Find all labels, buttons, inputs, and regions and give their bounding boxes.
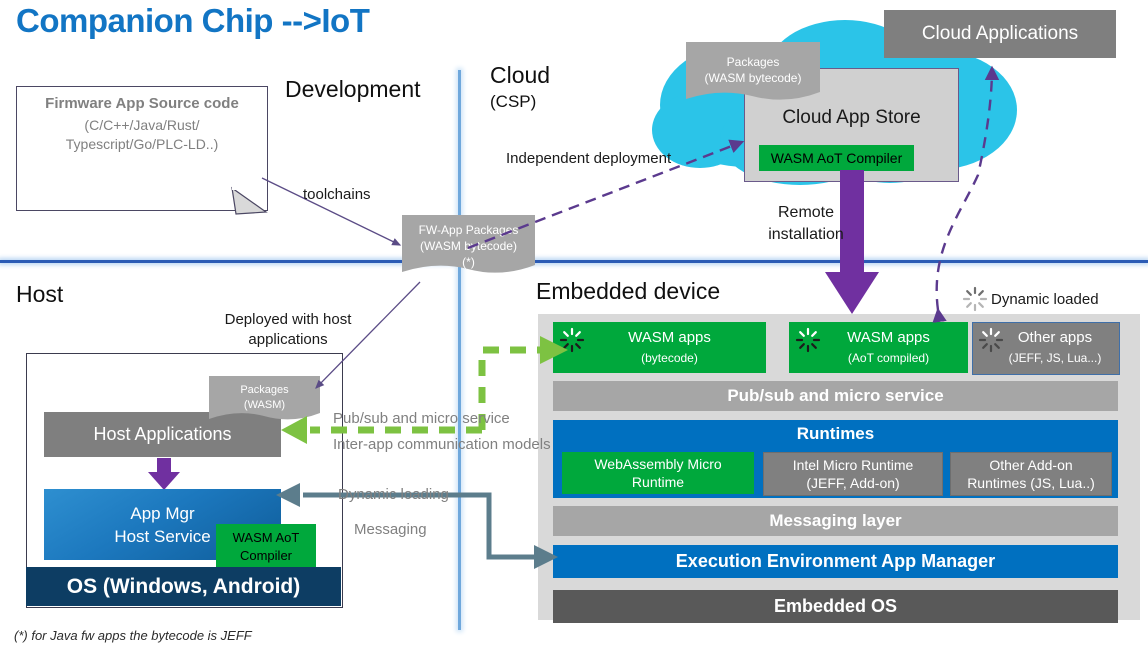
embedded-os-band[interactable]: Embedded OS bbox=[553, 590, 1118, 623]
messaging-label: Messaging bbox=[354, 521, 427, 538]
cloud-packages-callout: Packages (WASM bytecode) bbox=[686, 52, 820, 88]
cloud-wasm-aot-compiler-label: WASM AoT Compiler bbox=[771, 150, 902, 166]
host-app-mgr-line2: Host Service bbox=[114, 525, 210, 548]
host-applications-label: Host Applications bbox=[93, 424, 231, 445]
inter-app-communication-label: Inter-app communication models bbox=[333, 436, 551, 453]
section-heading-host: Host bbox=[16, 281, 63, 308]
embedded-runtime-1-l2: (JEFF, Add-on) bbox=[806, 474, 899, 492]
cloud-packages-line2: (WASM bytecode) bbox=[705, 70, 802, 86]
host-packages-line2: (WASM) bbox=[244, 398, 285, 413]
deployed-line2: applications bbox=[248, 330, 327, 350]
firmware-source-code-box: Firmware App Source code (C/C++/Java/Rus… bbox=[16, 86, 268, 211]
host-app-mgr-line1: App Mgr bbox=[130, 502, 194, 525]
section-heading-embedded-device: Embedded device bbox=[536, 278, 720, 305]
pubsub-micro-service-label: Pub/sub and micro service bbox=[333, 410, 510, 427]
firmware-heading: Firmware App Source code bbox=[45, 95, 239, 112]
deployed-with-host-label: Deployed with host applications bbox=[206, 310, 370, 350]
page-title: Companion Chip -->IoT bbox=[16, 2, 369, 40]
fw-packages-line1: FW-App Packages bbox=[419, 222, 519, 238]
spinner-icon-legend bbox=[964, 288, 986, 310]
embedded-runtime-box-0[interactable]: WebAssembly Micro Runtime bbox=[562, 452, 754, 494]
cloud-app-store-title: Cloud App Store bbox=[782, 107, 920, 129]
embedded-runtime-1-l1: Intel Micro Runtime bbox=[793, 456, 914, 474]
section-heading-cloud: Cloud bbox=[490, 62, 550, 89]
embedded-runtime-0-l2: Runtime bbox=[632, 473, 684, 491]
independent-deployment-label: Independent deployment bbox=[506, 150, 671, 167]
firmware-line2: (C/C++/Java/Rust/ bbox=[84, 116, 199, 135]
section-subheading-cloud-csp: (CSP) bbox=[490, 92, 536, 112]
embedded-app-1-sub: (AoT compiled) bbox=[848, 348, 929, 368]
embedded-runtimes-title-label: Runtimes bbox=[797, 424, 874, 444]
embedded-runtimes-title: Runtimes bbox=[553, 422, 1118, 446]
embedded-app-0-name: WASM apps bbox=[628, 328, 711, 348]
toolchains-label: toolchains bbox=[303, 186, 371, 203]
host-aot-line2: Compiler bbox=[240, 547, 292, 565]
embedded-runtime-2-l1: Other Add-on bbox=[989, 456, 1072, 474]
host-aot-line1: WASM AoT bbox=[233, 529, 300, 547]
dynamic-loading-label: Dynamic loading bbox=[338, 486, 449, 503]
remote-installation-label: Remote installation bbox=[766, 202, 846, 246]
fw-packages-callout: FW-App Packages (WASM bytecode) (*) bbox=[402, 220, 535, 272]
footnote: (*) for Java fw apps the bytecode is JEF… bbox=[14, 628, 252, 643]
fw-packages-line2: (WASM bytecode) bbox=[420, 238, 517, 254]
embedded-app-2-text: Other apps (JEFF, JS, Lua...) bbox=[992, 330, 1118, 365]
horizontal-divider bbox=[0, 260, 1148, 263]
embedded-pubsub-band[interactable]: Pub/sub and micro service bbox=[553, 381, 1118, 411]
cloud-applications-box[interactable]: Cloud Applications bbox=[884, 10, 1116, 58]
host-packages-callout: Packages (WASM) bbox=[209, 381, 320, 415]
embedded-app-1-name: WASM apps bbox=[847, 328, 930, 348]
embedded-runtime-2-l2: Runtimes (JS, Lua..) bbox=[967, 474, 1095, 492]
embedded-os-label: Embedded OS bbox=[774, 596, 897, 617]
cloud-packages-line1: Packages bbox=[727, 54, 780, 70]
host-applications-box[interactable]: Host Applications bbox=[44, 412, 281, 457]
embedded-runtime-0-l1: WebAssembly Micro bbox=[594, 455, 721, 473]
embedded-runtime-box-2[interactable]: Other Add-on Runtimes (JS, Lua..) bbox=[950, 452, 1112, 496]
cloud-applications-label: Cloud Applications bbox=[922, 23, 1078, 45]
dynamic-loaded-legend-label: Dynamic loaded bbox=[991, 291, 1099, 308]
remote-installation-line1: Remote bbox=[778, 202, 834, 224]
embedded-app-0-sub: (bytecode) bbox=[641, 348, 698, 368]
embedded-app-manager-label: Execution Environment App Manager bbox=[676, 551, 995, 572]
host-packages-line1: Packages bbox=[240, 383, 288, 398]
embedded-app-2-name: Other apps bbox=[1018, 328, 1092, 348]
embedded-pubsub-label: Pub/sub and micro service bbox=[727, 386, 943, 406]
deployed-line1: Deployed with host bbox=[225, 310, 352, 330]
section-heading-development: Development bbox=[285, 76, 421, 103]
embedded-app-0-text: WASM apps (bytecode) bbox=[573, 330, 766, 365]
firmware-line3: Typescript/Go/PLC-LD..) bbox=[66, 135, 219, 154]
embedded-app-2-sub: (JEFF, JS, Lua...) bbox=[1009, 348, 1102, 368]
fw-packages-line3: (*) bbox=[462, 254, 475, 270]
host-os-box[interactable]: OS (Windows, Android) bbox=[26, 567, 341, 606]
embedded-app-1-text: WASM apps (AoT compiled) bbox=[809, 330, 968, 365]
host-wasm-aot-compiler-box[interactable]: WASM AoT Compiler bbox=[216, 524, 316, 569]
embedded-messaging-layer-band[interactable]: Messaging layer bbox=[553, 506, 1118, 536]
remote-installation-line2: installation bbox=[768, 224, 844, 246]
embedded-runtime-box-1[interactable]: Intel Micro Runtime (JEFF, Add-on) bbox=[763, 452, 943, 496]
embedded-app-manager-band[interactable]: Execution Environment App Manager bbox=[553, 545, 1118, 578]
cloud-wasm-aot-compiler-box[interactable]: WASM AoT Compiler bbox=[759, 145, 914, 171]
embedded-messaging-layer-label: Messaging layer bbox=[769, 511, 901, 531]
host-os-label: OS (Windows, Android) bbox=[67, 575, 301, 599]
